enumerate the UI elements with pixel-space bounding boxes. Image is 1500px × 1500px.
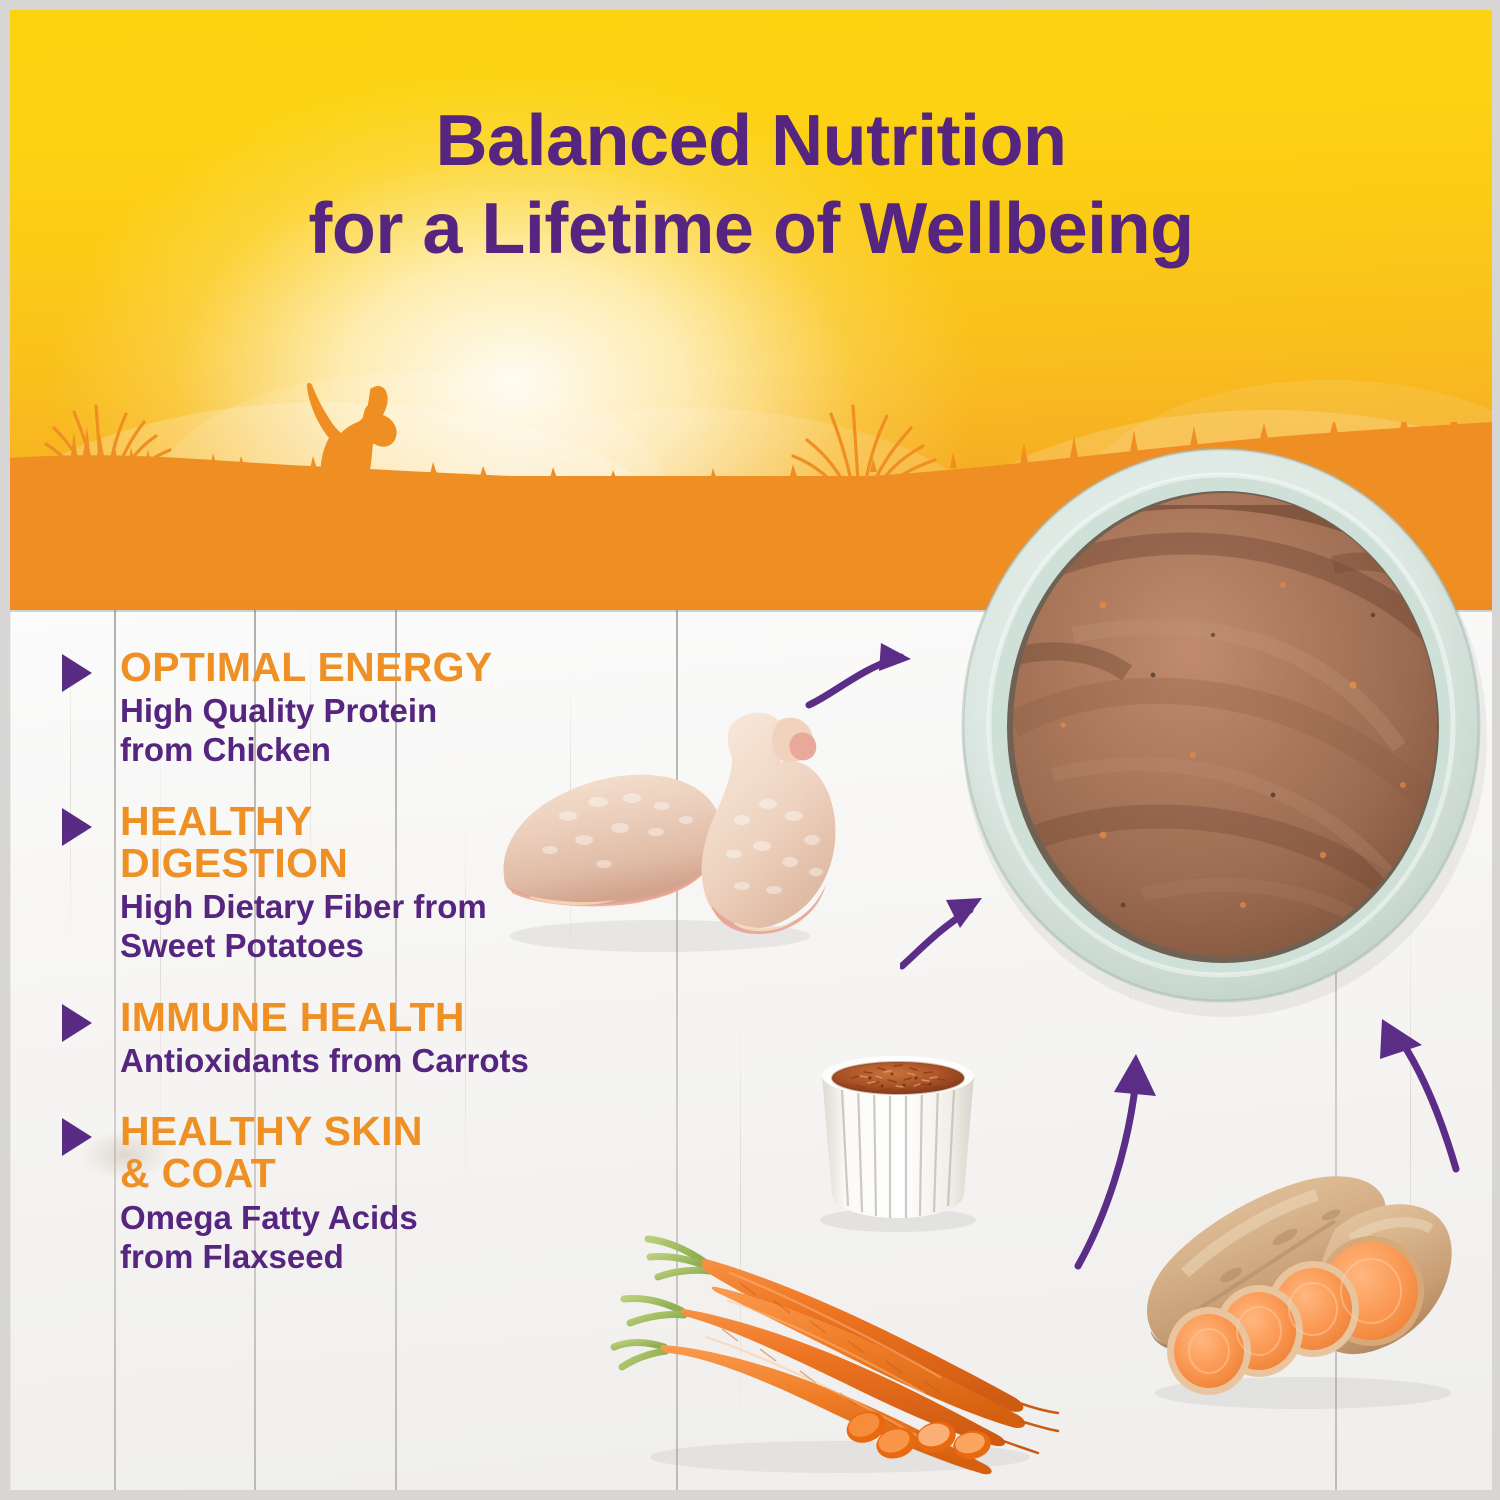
benefit-title: IMMUNE HEALTH bbox=[120, 996, 682, 1038]
benefit-title-line2: & COAT bbox=[120, 1152, 682, 1194]
chicken-photo bbox=[480, 700, 880, 960]
triangle-bullet-icon bbox=[62, 808, 92, 846]
flaxseed-ramekin-photo bbox=[798, 1028, 998, 1233]
benefit-subtitle-line2: from Flaxseed bbox=[120, 1237, 682, 1276]
carrots-photo bbox=[610, 1225, 1060, 1485]
benefit-subtitle: Antioxidants from Carrots bbox=[120, 1041, 682, 1080]
benefit-title-line1: HEALTHY SKIN bbox=[120, 1110, 682, 1152]
arrow-carrots-to-bowl bbox=[1070, 1040, 1180, 1270]
dog-silhouette-icon bbox=[288, 382, 418, 558]
arrow-flaxseed-to-bowl bbox=[900, 870, 1015, 975]
triangle-bullet-icon bbox=[62, 1118, 92, 1156]
food-bowl-photo bbox=[943, 425, 1492, 1025]
page-title-line1: Balanced Nutrition bbox=[10, 98, 1492, 186]
arrow-chicken-to-bowl bbox=[805, 635, 955, 715]
grass-silhouette-icon bbox=[745, 400, 975, 500]
benefit-subtitle-line1: Antioxidants from Carrots bbox=[120, 1041, 682, 1080]
benefit-title: HEALTHY SKIN & COAT bbox=[120, 1110, 682, 1194]
grass-silhouette-icon bbox=[40, 402, 250, 492]
product-infographic-card: Balanced Nutrition for a Lifetime of Wel… bbox=[10, 10, 1492, 1490]
triangle-bullet-icon bbox=[62, 1004, 92, 1042]
benefit-item-immune-health: IMMUNE HEALTH Antioxidants from Carrots bbox=[62, 996, 682, 1080]
triangle-bullet-icon bbox=[62, 654, 92, 692]
benefit-subtitle: Omega Fatty Acids from Flaxseed bbox=[120, 1198, 682, 1277]
benefit-title: OPTIMAL ENERGY bbox=[120, 646, 682, 688]
benefit-subtitle-line1: Omega Fatty Acids bbox=[120, 1198, 682, 1237]
page-title-line2: for a Lifetime of Wellbeing bbox=[10, 186, 1492, 274]
benefit-item-healthy-skin-coat: HEALTHY SKIN & COAT Omega Fatty Acids fr… bbox=[62, 1110, 682, 1276]
arrow-sweet-potato-to-bowl bbox=[1360, 1015, 1470, 1175]
page-title: Balanced Nutrition for a Lifetime of Wel… bbox=[10, 98, 1492, 274]
